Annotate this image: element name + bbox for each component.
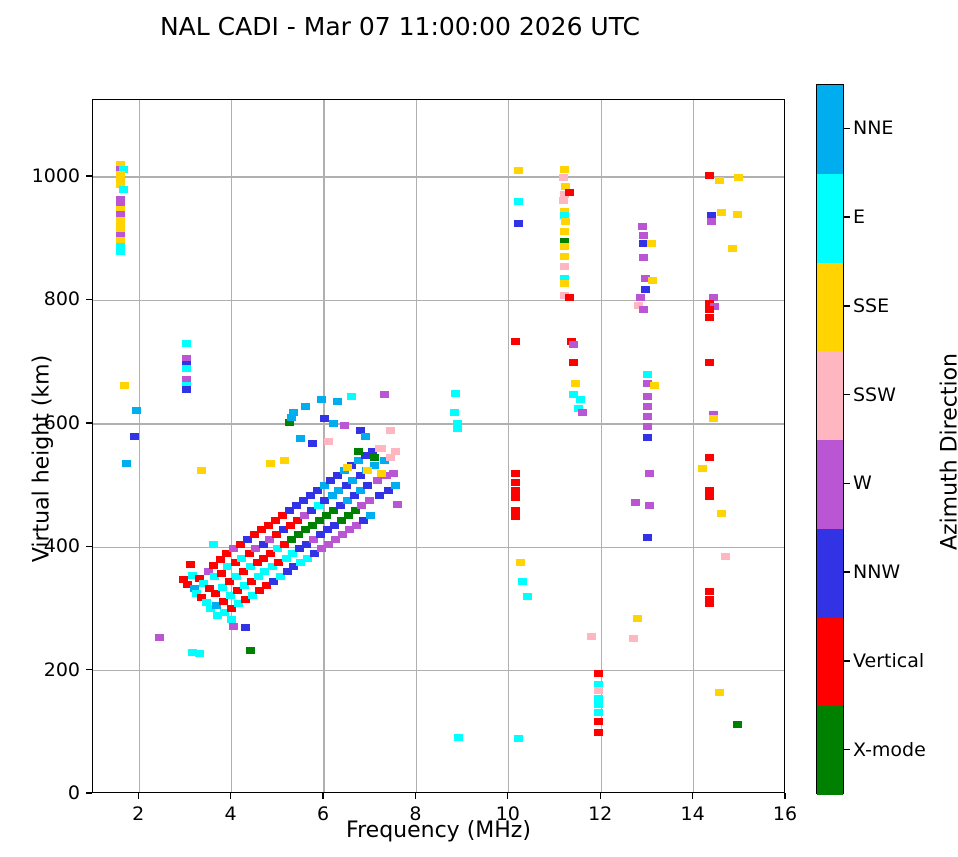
echo-point [643, 423, 652, 430]
echo-point [391, 448, 400, 455]
ionogram-figure: NAL CADI - Mar 07 11:00:00 2026 UTC Freq… [0, 0, 958, 857]
echo-point [511, 513, 520, 520]
echo-point [734, 174, 743, 181]
x-tick-label: 12 [588, 803, 612, 825]
colorbar-label-vertical: Vertical [853, 650, 924, 672]
gridline-vertical [416, 100, 417, 792]
y-axis-label: Virtual height (km) [30, 309, 55, 609]
echo-point [386, 427, 395, 434]
echo-point [289, 409, 298, 416]
echo-point [576, 396, 585, 403]
colorbar-tick-mark [844, 571, 850, 572]
echo-point [733, 721, 742, 728]
echo-point [705, 454, 714, 461]
echo-point [641, 286, 650, 293]
azimuth-colorbar[interactable] [816, 84, 844, 794]
y-tick-label: 0 [2, 782, 80, 804]
echo-point [132, 407, 141, 414]
echo-point [296, 435, 305, 442]
echo-point [709, 415, 718, 422]
echo-point [594, 701, 603, 708]
echo-point [340, 422, 349, 429]
echo-point [594, 687, 603, 694]
echo-point [363, 482, 372, 489]
echo-point [717, 209, 726, 216]
colorbar-label-nne: NNE [853, 117, 893, 139]
colorbar-label-e: E [853, 206, 865, 228]
echo-point [216, 556, 225, 563]
echo-point [523, 593, 532, 600]
echo-point [182, 340, 191, 347]
echo-point [301, 403, 310, 410]
echo-point [511, 470, 520, 477]
y-tick-mark [86, 299, 92, 300]
echo-point [116, 248, 125, 255]
y-tick-label: 600 [2, 412, 80, 434]
echo-point [361, 433, 370, 440]
echo-point [645, 470, 654, 477]
echo-point [391, 482, 400, 489]
gridline-horizontal [93, 423, 784, 424]
echo-point [186, 561, 195, 568]
y-tick-label: 1000 [2, 165, 80, 187]
colorbar-segment-ssw[interactable] [817, 351, 843, 440]
gridline-vertical [231, 100, 232, 792]
echo-point [715, 177, 724, 184]
y-tick-mark [86, 669, 92, 670]
echo-point [365, 497, 374, 504]
echo-point [324, 438, 333, 445]
echo-point [393, 501, 402, 508]
echo-point [565, 189, 574, 196]
echo-point [246, 647, 255, 654]
echo-point [705, 588, 714, 595]
echo-point [347, 393, 356, 400]
colorbar-tick-mark [844, 660, 850, 661]
echo-point [130, 433, 139, 440]
echo-point [450, 409, 459, 416]
echo-point [569, 359, 578, 366]
echo-point [518, 578, 527, 585]
echo-point [571, 380, 580, 387]
colorbar-label-nnw: NNW [853, 561, 900, 583]
echo-point [715, 689, 724, 696]
echo-point [211, 590, 220, 597]
y-tick-label: 200 [2, 659, 80, 681]
echo-point [705, 172, 714, 179]
echo-point [728, 245, 737, 252]
echo-point [639, 306, 648, 313]
echo-point [320, 415, 329, 422]
echo-point [587, 633, 596, 640]
echo-point [511, 338, 520, 345]
y-tick-mark [86, 422, 92, 423]
echo-point [559, 197, 568, 204]
colorbar-segment-e[interactable] [817, 174, 843, 263]
echo-point [560, 243, 569, 250]
echo-point [705, 359, 714, 366]
echo-point [266, 460, 275, 467]
echo-point [560, 253, 569, 260]
colorbar-segment-x-mode[interactable] [817, 706, 843, 795]
echo-point [380, 391, 389, 398]
colorbar-tick-mark [844, 483, 850, 484]
echo-point [182, 386, 191, 393]
echo-point [645, 502, 654, 509]
echo-point [717, 510, 726, 517]
x-tick-mark [230, 793, 231, 799]
echo-point [389, 470, 398, 477]
x-tick-mark [415, 793, 416, 799]
echo-point [733, 211, 742, 218]
echo-point [707, 218, 716, 225]
echo-point [218, 584, 227, 591]
echo-point [594, 729, 603, 736]
gridline-vertical [508, 100, 509, 792]
echo-point [629, 635, 638, 642]
colorbar-tick-mark [844, 216, 850, 217]
echo-point [643, 371, 652, 378]
echo-point [643, 434, 652, 441]
echo-point [195, 650, 204, 657]
gridline-vertical [693, 100, 694, 792]
echo-point [363, 467, 372, 474]
colorbar-title: Azimuth Direction [938, 302, 958, 602]
echo-point [643, 534, 652, 541]
colorbar-segment-w[interactable] [817, 440, 843, 529]
x-tick-label: 8 [409, 803, 421, 825]
echo-point [122, 460, 131, 467]
echo-point [705, 493, 714, 500]
echo-point [333, 398, 342, 405]
echo-point [643, 393, 652, 400]
colorbar-segment-vertical[interactable] [817, 618, 843, 707]
echo-point [377, 470, 386, 477]
page-title: NAL CADI - Mar 07 11:00:00 2026 UTC [0, 12, 800, 41]
echo-point [209, 541, 218, 548]
echo-point [639, 232, 648, 239]
echo-point [514, 735, 523, 742]
x-tick-label: 10 [496, 803, 520, 825]
echo-point [721, 553, 730, 560]
echo-point [643, 413, 652, 420]
echo-point [366, 512, 375, 519]
echo-point [560, 263, 569, 270]
echo-point [219, 598, 228, 605]
y-tick-mark [86, 175, 92, 176]
echo-point [647, 240, 656, 247]
echo-point [511, 487, 520, 494]
echo-point [643, 403, 652, 410]
echo-point [565, 294, 574, 301]
echo-point [560, 280, 569, 287]
echo-point [648, 277, 657, 284]
echo-point [373, 477, 382, 484]
echo-point [209, 562, 218, 569]
echo-point [514, 167, 523, 174]
x-tick-label: 4 [225, 803, 237, 825]
echo-point [155, 634, 164, 641]
colorbar-label-w: W [853, 472, 872, 494]
x-tick-mark [322, 793, 323, 799]
echo-point [454, 734, 463, 741]
colorbar-tick-mark [844, 305, 850, 306]
echo-point [453, 425, 462, 432]
echo-point [197, 467, 206, 474]
echo-point [375, 492, 384, 499]
x-tick-mark [600, 793, 601, 799]
gridline-horizontal [93, 300, 784, 301]
echo-point [594, 709, 603, 716]
colorbar-tick-mark [844, 128, 850, 129]
echo-point [633, 615, 642, 622]
echo-point [182, 365, 191, 372]
echo-point [516, 559, 525, 566]
echo-point [559, 174, 568, 181]
echo-point [511, 479, 520, 486]
echo-point [217, 570, 226, 577]
echo-point [514, 220, 523, 227]
plot-area[interactable] [92, 99, 785, 793]
echo-point [511, 494, 520, 501]
echo-point [343, 464, 352, 471]
colorbar-label-ssw: SSW [853, 384, 896, 406]
echo-point [354, 448, 363, 455]
colorbar-label-x-mode: X-mode [853, 739, 926, 761]
echo-point [698, 465, 707, 472]
colorbar-segment-nnw[interactable] [817, 529, 843, 618]
x-tick-mark [138, 793, 139, 799]
echo-point [636, 294, 645, 301]
gridline-horizontal [93, 547, 784, 548]
echo-point [229, 623, 238, 630]
echo-point [386, 454, 395, 461]
x-tick-mark [784, 793, 785, 799]
echo-point [308, 440, 317, 447]
echo-point [705, 600, 714, 607]
x-tick-mark [507, 793, 508, 799]
echo-point [594, 670, 603, 677]
x-tick-mark [692, 793, 693, 799]
echo-point [561, 218, 570, 225]
echo-point [120, 382, 129, 389]
echo-point [119, 186, 128, 193]
echo-point [650, 382, 659, 389]
y-tick-mark [86, 792, 92, 793]
echo-point [280, 457, 289, 464]
echo-point [638, 223, 647, 230]
gridline-horizontal [93, 176, 784, 177]
colorbar-tick-mark [844, 749, 850, 750]
gridline-vertical [323, 100, 324, 792]
colorbar-tick-mark [844, 394, 850, 395]
echo-point [317, 396, 326, 403]
colorbar-label-sse: SSE [853, 295, 889, 317]
echo-point [375, 445, 384, 452]
echo-point [705, 314, 714, 321]
y-tick-mark [86, 546, 92, 547]
colorbar-segment-sse[interactable] [817, 263, 843, 352]
y-tick-label: 800 [2, 288, 80, 310]
echo-point [451, 390, 460, 397]
echo-point [370, 454, 379, 461]
echo-point [594, 718, 603, 725]
echo-point [241, 624, 250, 631]
x-tick-label: 16 [773, 803, 797, 825]
echo-point [631, 499, 640, 506]
echo-point [639, 254, 648, 261]
echo-point [560, 166, 569, 173]
y-tick-label: 400 [2, 535, 80, 557]
x-tick-label: 6 [317, 803, 329, 825]
echo-point [578, 409, 587, 416]
echo-point [514, 198, 523, 205]
echo-point [560, 228, 569, 235]
gridline-horizontal [93, 670, 784, 671]
echo-point [705, 306, 714, 313]
echo-point [329, 420, 338, 427]
colorbar-segment-nne[interactable] [817, 85, 843, 174]
x-tick-label: 14 [681, 803, 705, 825]
echo-point [569, 341, 578, 348]
x-tick-label: 2 [132, 803, 144, 825]
gridline-vertical [139, 100, 140, 792]
